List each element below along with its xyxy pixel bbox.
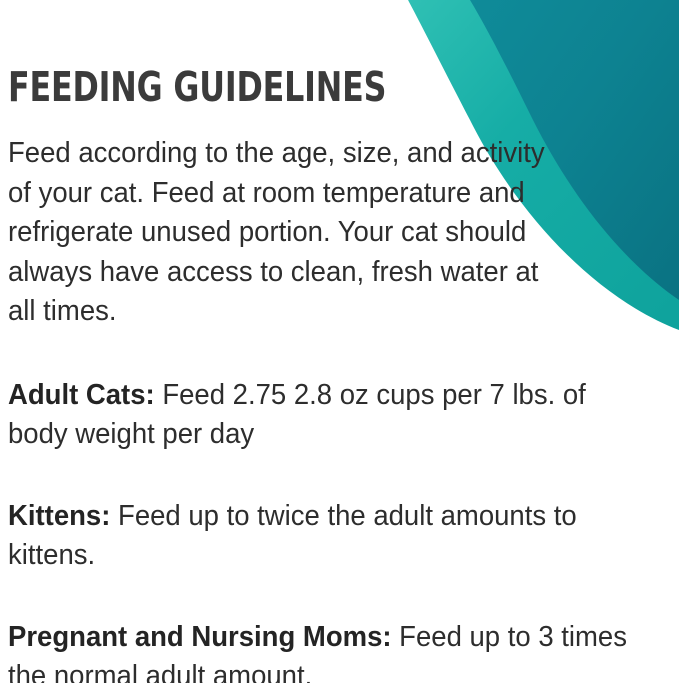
page-title: FEEDING GUIDELINES <box>8 0 578 109</box>
intro-paragraph: Feed according to the age, size, and act… <box>8 109 548 332</box>
guideline-label-pregnant-nursing-moms: Pregnant and Nursing Moms: <box>8 621 392 653</box>
content-column: FEEDING GUIDELINES Feed according to the… <box>0 0 679 683</box>
guideline-label-kittens: Kittens: <box>8 500 110 532</box>
guideline-adult-cats: Adult Cats: Feed 2.75 2.8 oz cups per 7 … <box>8 332 648 455</box>
guideline-kittens: Kittens: Feed up to twice the adult amou… <box>8 455 648 576</box>
guideline-pregnant-nursing-moms: Pregnant and Nursing Moms: Feed up to 3 … <box>8 576 648 683</box>
guideline-label-adult-cats: Adult Cats: <box>8 379 155 411</box>
feeding-guidelines-panel: FEEDING GUIDELINES Feed according to the… <box>0 0 679 683</box>
